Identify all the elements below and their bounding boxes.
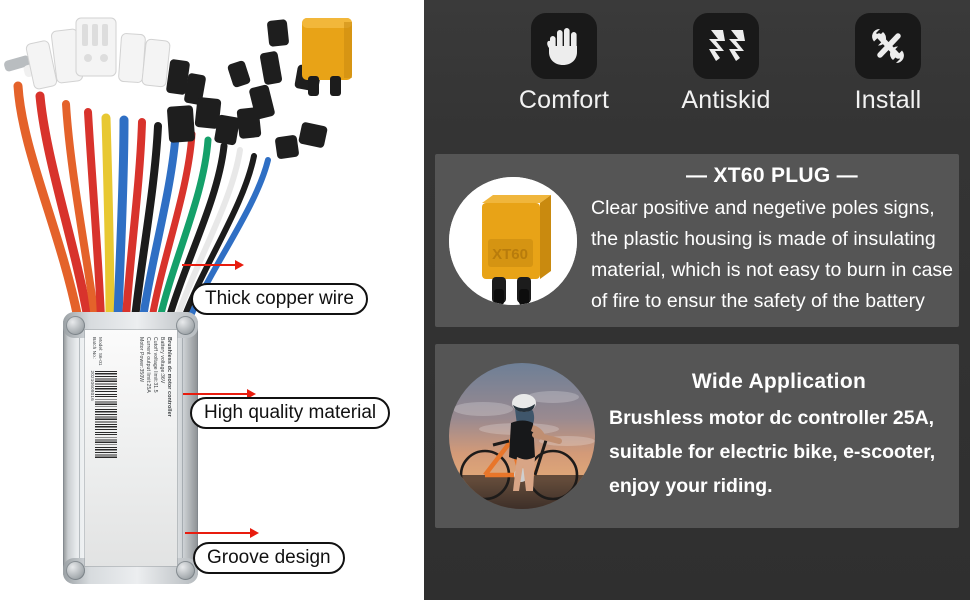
callout-groove-design: Groove design (193, 542, 345, 574)
wrench-screwdriver-icon (867, 25, 909, 67)
card-xt60-plug: XT60 — XT60 PLUG — Clear positive and ne… (435, 154, 959, 327)
product-infographic: Brushless dc motor controller Battery vo… (0, 0, 970, 600)
badge-antiskid: Antiskid (670, 13, 782, 115)
xt60-plug-illustration: XT60 (449, 177, 577, 305)
callout-high-quality-material: High quality material (190, 397, 390, 429)
mounting-lug (66, 316, 85, 335)
badge-antiskid-label: Antiskid (681, 86, 770, 115)
xt60-card-line-3: material, which is not easy to burn in c… (591, 255, 953, 286)
feature-badge-row: Comfort Antiskid (424, 0, 970, 115)
spec-line-cutoff: Cutoff voltage limit:31.5 (152, 337, 158, 559)
xt60-embossed-text: XT60 (492, 246, 528, 263)
zigzag-bolt-icon (705, 27, 747, 65)
card-wide-application: Wide Application Brushless motor dc cont… (435, 344, 959, 528)
callout-thick-copper-wire: Thick copper wire (191, 283, 368, 315)
xt60-card-text: — XT60 PLUG — Clear positive and negetiv… (577, 164, 963, 317)
application-card-title: Wide Application (609, 370, 949, 394)
badge-install: Install (832, 13, 944, 115)
product-photo-panel: Brushless dc motor controller Battery vo… (0, 0, 424, 600)
motor-controller-body: Brushless dc motor controller Battery vo… (63, 312, 198, 584)
spec-batch: Batch No.: (90, 337, 96, 366)
spec-model: Model: S6-01 (97, 337, 103, 366)
mounting-lug (66, 561, 85, 580)
application-card-line-2: suitable for electric bike, e-scooter, (609, 435, 949, 469)
xt60-plug-harness (302, 18, 352, 96)
hand-icon (545, 26, 583, 66)
xt60-card-line-1: Clear positive and negetive poles signs, (591, 193, 953, 224)
spec-line-current: Current output limit:25A (145, 337, 151, 559)
badge-comfort-label: Comfort (519, 86, 609, 115)
spec-title: Brushless dc motor controller (166, 337, 172, 559)
spec-line-voltage: Battery voltage:36V (159, 337, 165, 559)
cyclist-photo (449, 363, 595, 509)
xt60-card-line-2: the plastic housing is made of insulatin… (591, 224, 953, 255)
wire-harness-photo (0, 0, 424, 330)
feature-info-panel: Comfort Antiskid (424, 0, 970, 600)
mounting-lug (176, 316, 195, 335)
spec-label-sticker: Brushless dc motor controller Battery vo… (85, 330, 177, 566)
barcode (95, 371, 117, 459)
callout-arrow-groove-design (185, 528, 259, 538)
comfort-tile (531, 13, 597, 79)
application-card-line-1: Brushless motor dc controller 25A, (609, 401, 949, 435)
barcode-number: 20210608016 (90, 371, 95, 459)
xt60-card-line-4: of fire to ensur the safety of the batte… (591, 286, 953, 317)
callout-arrow-thick-copper-wire (182, 260, 244, 270)
cyclist-sunset-illustration (449, 363, 595, 509)
application-card-line-3: enjoy your riding. (609, 469, 949, 503)
spec-line-power: Motor Power:350W (138, 337, 144, 559)
xt60-plug-photo: XT60 (449, 177, 577, 305)
antiskid-tile (693, 13, 759, 79)
install-tile (855, 13, 921, 79)
mounting-lug (176, 561, 195, 580)
badge-install-label: Install (855, 86, 922, 115)
application-card-text: Wide Application Brushless motor dc cont… (595, 370, 959, 503)
badge-comfort: Comfort (508, 13, 620, 115)
xt60-card-title: — XT60 PLUG — (591, 164, 953, 188)
